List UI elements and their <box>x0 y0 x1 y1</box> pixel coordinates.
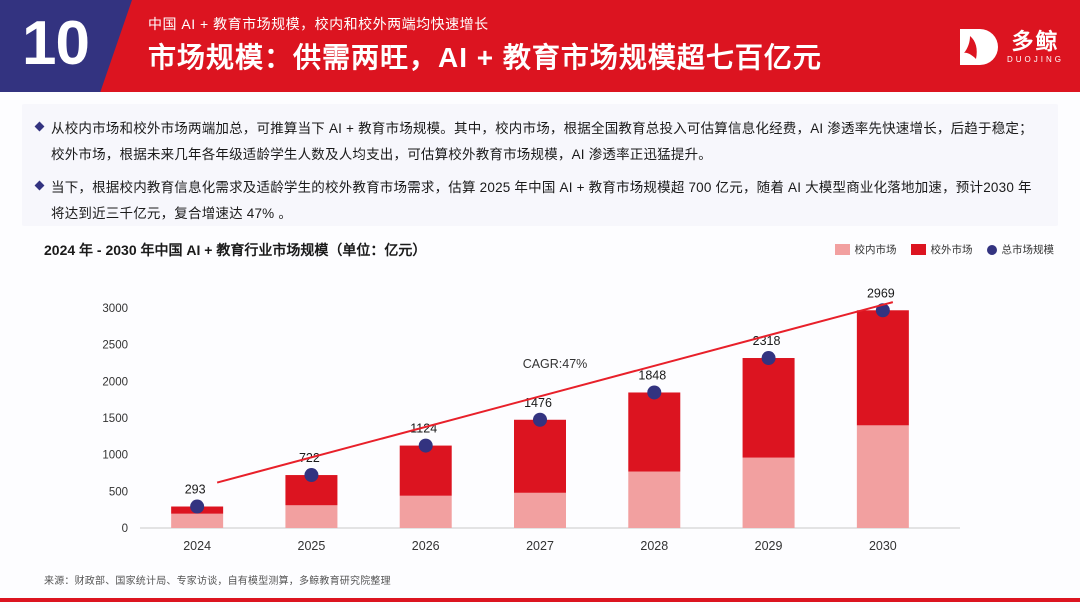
slide-number: 10 <box>22 0 132 90</box>
logo-name-cn: 多鲸 <box>1011 31 1059 53</box>
logo-name-en: DUOJING <box>1007 56 1064 64</box>
y-axis-tick-label: 0 <box>122 523 128 535</box>
x-axis-tick-label: 2028 <box>640 539 668 553</box>
summary-card: 从校内市场和校外市场两端加总，可推算当下 AI + 教育市场规模。其中，校内市场… <box>22 104 1058 226</box>
stacked-bar-chart: 0500100015002000250030002024293202572220… <box>0 268 1080 568</box>
legend-label-total: 总市场规模 <box>1002 242 1055 257</box>
total-marker-dot <box>190 500 204 514</box>
bar-segment-school <box>285 505 337 528</box>
slide-root: 10 中国 AI + 教育市场规模，校内和校外两端均快速增长 市场规模：供需两旺… <box>0 0 1080 608</box>
chart-legend: 校内市场 校外市场 总市场规模 <box>835 242 1055 257</box>
x-axis-tick-label: 2026 <box>412 539 440 553</box>
bar-data-label: 2969 <box>867 286 895 300</box>
x-axis-tick-label: 2024 <box>183 539 211 553</box>
legend-label-school: 校内市场 <box>855 242 897 257</box>
list-item: 从校内市场和校外市场两端加总，可推算当下 AI + 教育市场规模。其中，校内市场… <box>36 116 1044 168</box>
legend-item-school: 校内市场 <box>835 242 897 257</box>
legend-swatch-school <box>835 244 850 255</box>
slide-header: 10 中国 AI + 教育市场规模，校内和校外两端均快速增长 市场规模：供需两旺… <box>0 0 1080 92</box>
total-marker-dot <box>533 413 547 427</box>
legend-label-offschool: 校外市场 <box>931 242 973 257</box>
x-axis-tick-label: 2027 <box>526 539 554 553</box>
bottom-accent-bar <box>0 598 1080 602</box>
bullet-text: 当下，根据校内教育信息化需求及适龄学生的校外教育市场需求，估算 2025 年中国… <box>51 175 1044 227</box>
chart-plot-area: 0500100015002000250030002024293202572220… <box>0 268 1080 568</box>
bar-segment-school <box>514 493 566 528</box>
legend-item-offschool: 校外市场 <box>911 242 973 257</box>
bar-segment-offschool <box>628 392 680 471</box>
bullet-text: 从校内市场和校外市场两端加总，可推算当下 AI + 教育市场规模。其中，校内市场… <box>51 116 1044 168</box>
bar-segment-offschool <box>514 420 566 493</box>
x-axis-tick-label: 2030 <box>869 539 897 553</box>
y-axis-tick-label: 3000 <box>102 303 128 315</box>
x-axis-tick-label: 2029 <box>755 539 783 553</box>
legend-swatch-offschool <box>911 244 926 255</box>
y-axis-tick-label: 1500 <box>102 413 128 425</box>
x-axis-tick-label: 2025 <box>298 539 326 553</box>
logo-text: 多鲸 DUOJING <box>1007 31 1064 64</box>
bar-segment-school <box>171 514 223 528</box>
bar-data-label: 293 <box>185 483 206 497</box>
cagr-annotation-label: CAGR:47% <box>523 357 588 371</box>
y-axis-tick-label: 2500 <box>102 340 128 352</box>
total-marker-dot <box>762 351 776 365</box>
y-axis-tick-label: 1000 <box>102 450 128 462</box>
chart-source-note: 来源：财政部、国家统计局、专家访谈，自有模型测算，多鲸教育研究院整理 <box>44 572 391 587</box>
brand-logo: 多鲸 DUOJING <box>957 24 1064 70</box>
chart-title: 2024 年 - 2030 年中国 AI + 教育行业市场规模（单位：亿元） <box>44 240 426 260</box>
total-marker-dot <box>647 385 661 399</box>
bar-segment-school <box>400 496 452 528</box>
bar-segment-school <box>628 472 680 528</box>
bar-segment-school <box>857 425 909 528</box>
diamond-bullet-icon <box>35 181 45 191</box>
y-axis-tick-label: 2000 <box>102 376 128 388</box>
diamond-bullet-icon <box>35 122 45 132</box>
whale-logo-icon <box>957 26 999 68</box>
legend-item-total: 总市场规模 <box>987 242 1055 257</box>
bar-data-label: 1124 <box>410 422 437 436</box>
header-subtitle: 中国 AI + 教育市场规模，校内和校外两端均快速增长 <box>148 14 489 34</box>
total-marker-dot <box>304 468 318 482</box>
page-title: 市场规模：供需两旺，AI + 教育市场规模超七百亿元 <box>148 36 822 76</box>
bar-segment-offschool <box>743 358 795 458</box>
y-axis-tick-label: 500 <box>109 486 128 498</box>
bar-segment-offschool <box>400 446 452 496</box>
bar-segment-school <box>743 458 795 528</box>
bar-data-label: 1848 <box>638 368 666 382</box>
bar-segment-offschool <box>857 310 909 425</box>
list-item: 当下，根据校内教育信息化需求及适龄学生的校外教育市场需求，估算 2025 年中国… <box>36 175 1044 227</box>
legend-dot-total <box>987 245 997 255</box>
bullet-list: 从校内市场和校外市场两端加总，可推算当下 AI + 教育市场规模。其中，校内市场… <box>36 116 1044 234</box>
total-marker-dot <box>419 439 433 453</box>
